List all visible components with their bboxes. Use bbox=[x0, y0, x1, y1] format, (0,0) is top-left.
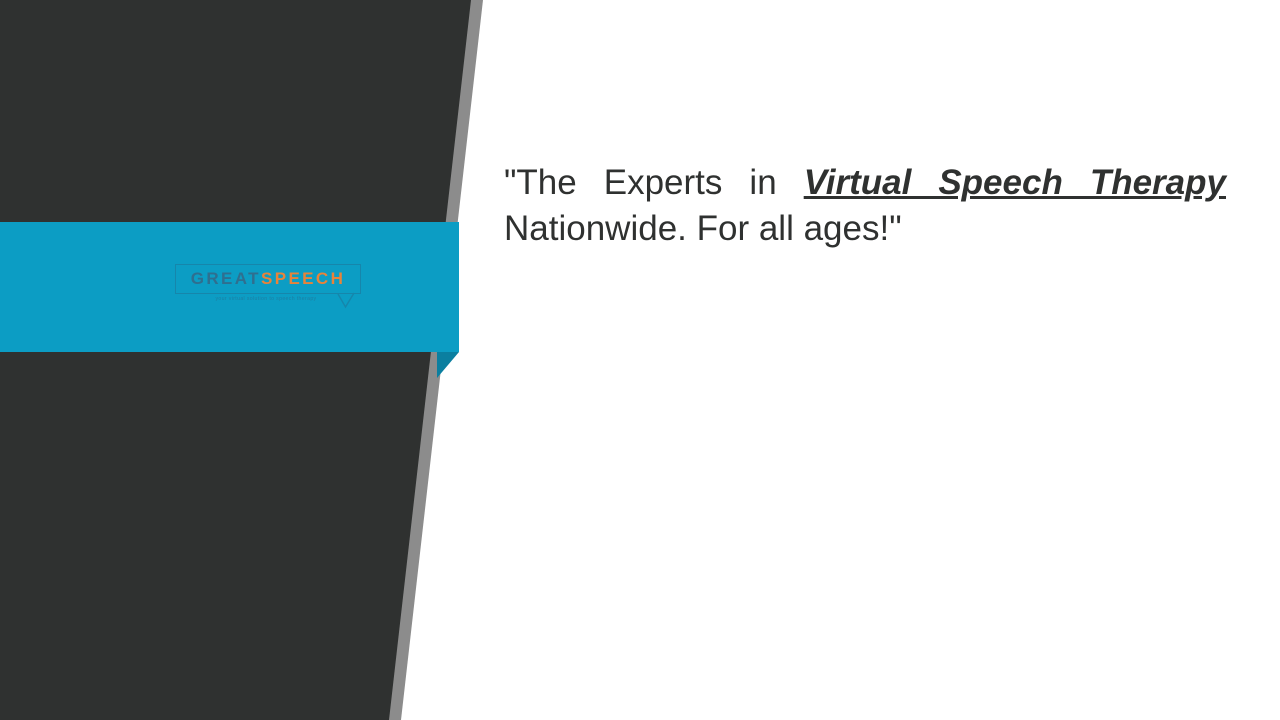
headline-line-2: Nationwide. For all ages!" bbox=[504, 206, 1226, 252]
headline-line-1: "The Experts in Virtual Speech Therapy bbox=[504, 160, 1226, 206]
headline-prefix: "The Experts in bbox=[504, 163, 804, 202]
logo-tagline: your virtual solution to speech therapy bbox=[178, 296, 354, 302]
great-speech-logo: GREATSPEECH your virtual solution to spe… bbox=[175, 264, 365, 314]
logo-wordmark: GREATSPEECH bbox=[175, 264, 361, 294]
page-title: "The Experts in Virtual Speech Therapy N… bbox=[504, 160, 1226, 252]
headline-emphasis: Virtual Speech Therapy bbox=[804, 163, 1226, 202]
left-decoration-panel bbox=[0, 0, 540, 720]
check-mark-icon bbox=[337, 292, 355, 310]
logo-word-speech: SPEECH bbox=[261, 269, 345, 288]
slide-canvas: GREATSPEECH your virtual solution to spe… bbox=[0, 0, 1280, 720]
logo-word-great: GREAT bbox=[191, 269, 261, 288]
